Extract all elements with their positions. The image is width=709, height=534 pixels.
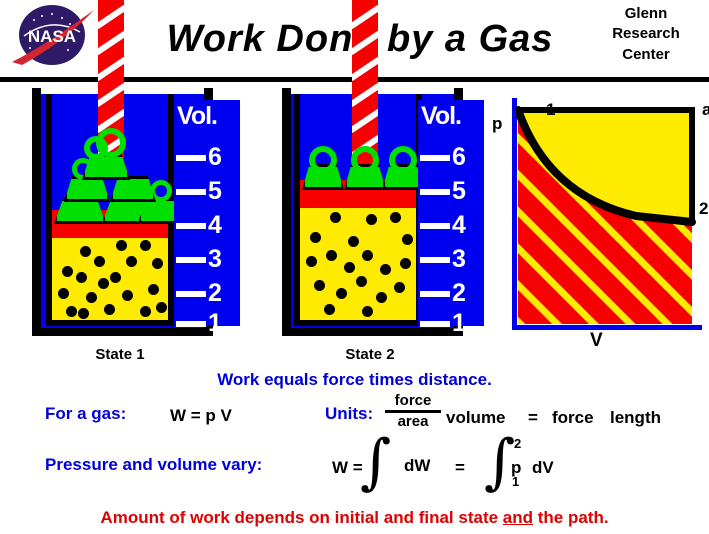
- point-label-2: 2: [699, 199, 708, 219]
- scale-tick-6: 6: [208, 143, 222, 172]
- cylinder-state-2: Vol. 6 5 4 3 2 1: [252, 88, 488, 340]
- conclusion-emphasis: and: [503, 508, 533, 527]
- for-a-gas-label: For a gas:: [45, 404, 126, 424]
- integrand-dw: dW: [404, 456, 430, 476]
- center-line-1: Glenn: [591, 4, 701, 24]
- integrand-dv: dV: [532, 458, 554, 478]
- scale-tick-4: 4: [208, 211, 222, 240]
- caption-state-2: State 2: [252, 346, 488, 363]
- scale-tick-2: 2: [452, 279, 466, 308]
- research-center-label: Glenn Research Center: [591, 4, 701, 65]
- piston-rod: [352, 0, 378, 168]
- caption-state-1: State 1: [2, 346, 238, 363]
- pv-plot-area: 1 a 2: [516, 104, 701, 326]
- weight: [344, 150, 386, 180]
- gas-volume: [300, 206, 416, 320]
- inner-base: [46, 320, 174, 326]
- scale-tick-5: 5: [452, 177, 466, 206]
- scale-tick-1: 1: [452, 309, 466, 338]
- volume-scale: Vol. 6 5 4 3 2 1: [418, 100, 484, 326]
- integral-upper-bound: 2: [514, 436, 521, 451]
- scale-tick-6: 6: [452, 143, 466, 172]
- scale-tick-3: 3: [208, 245, 222, 274]
- weight: [302, 150, 344, 180]
- work-equals-statement: Work equals force times distance.: [0, 370, 709, 390]
- scale-tick-5: 5: [208, 177, 222, 206]
- integrand-p: p: [511, 458, 521, 478]
- center-line-2: Research: [591, 24, 701, 44]
- pv-curve-svg: [516, 104, 701, 326]
- conclusion-pre: Amount of work depends on initial and fi…: [100, 508, 502, 527]
- pv-diagram: p V 1 a 2: [492, 92, 709, 348]
- axis-label-v: V: [590, 330, 603, 352]
- units-volume: volume: [446, 408, 506, 428]
- units-length: length: [610, 408, 661, 428]
- conclusion-statement: Amount of work depends on initial and fi…: [0, 508, 709, 528]
- nasa-wordmark: NASA: [28, 27, 76, 46]
- work-equation-lhs: W =: [332, 458, 363, 478]
- pressure-volume-vary-label: Pressure and volume vary:: [45, 455, 262, 475]
- center-line-3: Center: [591, 45, 701, 65]
- equals-sign-2: =: [455, 458, 465, 478]
- gas-volume: [52, 236, 168, 320]
- outer-wall-left: [32, 88, 41, 336]
- conclusion-post: the path.: [533, 508, 609, 527]
- scale-tick-1: 1: [208, 309, 222, 338]
- nasa-logo: NASA: [4, 2, 100, 68]
- volume-scale-label: Vol.: [177, 102, 217, 131]
- point-label-1: 1: [546, 100, 555, 120]
- scale-tick-2: 2: [208, 279, 222, 308]
- volume-scale-label: Vol.: [421, 102, 461, 131]
- volume-scale: Vol. 6 5 4 3 2 1: [174, 100, 240, 326]
- units-label: Units:: [325, 404, 373, 424]
- integral-sign-icon: ∫: [360, 432, 391, 492]
- units-numerator: force: [385, 393, 441, 409]
- outer-wall-left: [282, 88, 291, 336]
- axis-label-p: p: [492, 114, 502, 134]
- units-force: force: [552, 408, 594, 428]
- weight: [94, 134, 134, 160]
- inner-base: [294, 320, 422, 326]
- units-fraction: force area: [385, 393, 441, 430]
- point-label-a: a: [702, 100, 709, 120]
- cylinder-state-1: Vol. 6 5 4 3 2 1: [2, 88, 238, 340]
- units-denominator: area: [385, 414, 441, 430]
- units-equals-sign: =: [528, 408, 538, 428]
- scale-tick-4: 4: [452, 211, 466, 240]
- for-a-gas-equation: W = p V: [170, 406, 232, 426]
- scale-tick-3: 3: [452, 245, 466, 274]
